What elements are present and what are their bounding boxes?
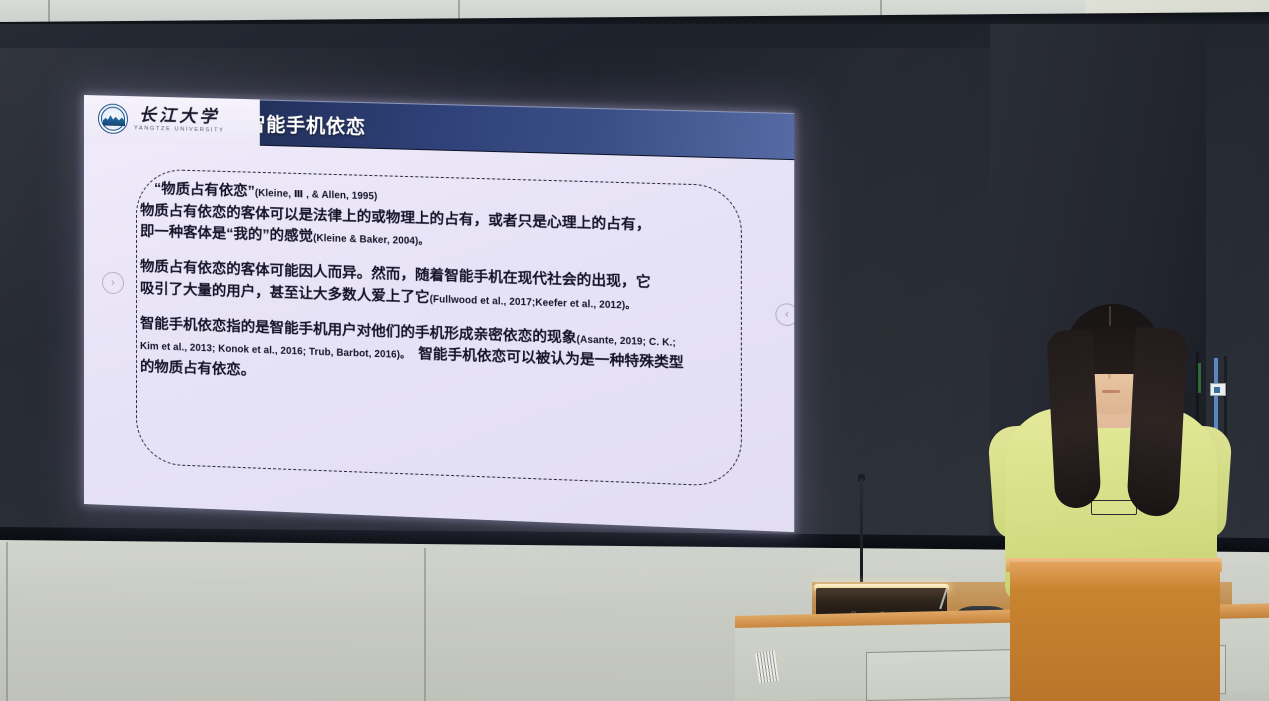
p1-line3-citation: (Kleine & Baker, 2004)。 [313, 233, 428, 248]
university-crest-icon [98, 103, 128, 134]
podium [1010, 562, 1220, 701]
hair-part [1109, 306, 1111, 326]
chevron-right-icon: › [111, 277, 115, 288]
university-name-en: YANGTZE UNIVERSITY [134, 127, 224, 135]
p3-line3-text: 的物质占有依恋。 [140, 359, 255, 379]
classroom-scene: 2.1 从人际依恋到智能手机依恋 长江大学 YANGTZE UNIVERSITY… [0, 0, 1269, 701]
university-logo: 长江大学 YANGTZE UNIVERSITY [84, 95, 260, 146]
p3-line1-text: 智能手机依恋指的是智能手机用户对他们的手机形成亲密依恋的现象 [140, 315, 577, 346]
slide-prev-button[interactable]: ‹ [775, 303, 794, 326]
p3-line1-citation: (Asante, 2019; C. K.; [577, 334, 676, 349]
mouth [1102, 390, 1120, 393]
hair-left [1046, 329, 1101, 509]
shirt-graphic [1091, 500, 1137, 515]
p3-line2-citation: Kim et al., 2013; Konok et al., 2016; Tr… [140, 341, 410, 361]
presenter [985, 300, 1235, 600]
chevron-left-icon: ‹ [785, 309, 789, 320]
paragraph-2: 物质占有依恋的客体可能因人而异。然而，随着智能手机在现代社会的出现，它 吸引了大… [140, 257, 754, 320]
university-name-cn: 长江大学 [139, 107, 219, 126]
slide-body: “物质占有依恋”(Kleine, Ⅲ , & Allen, 1995) 物质占有… [140, 179, 754, 414]
wall-seam [6, 542, 8, 701]
p2-line2-citation: (Fullwood et al., 2017;Keefer et al., 20… [430, 294, 636, 312]
p1-line1-citation: (Kleine, Ⅲ , & Allen, 1995) [255, 188, 378, 203]
p2-line2-text: 吸引了大量的用户，甚至让大多数人爱上了它 [140, 281, 430, 306]
hair-right [1126, 327, 1188, 517]
slide-next-button[interactable]: › [102, 272, 124, 295]
wall-seam [424, 548, 426, 701]
projected-slide[interactable]: 2.1 从人际依恋到智能手机依恋 长江大学 YANGTZE UNIVERSITY… [84, 95, 794, 532]
p1-line3-text: 即一种客体是“我的”的感觉 [140, 224, 313, 245]
equipment-label-sticker [755, 651, 779, 684]
p1-line1-text: “物质占有依恋” [140, 181, 255, 200]
paragraph-3: 智能手机依恋指的是智能手机用户对他们的手机形成亲密依恋的现象(Asante, 2… [140, 313, 754, 400]
p3-line2-text: 智能手机依恋可以被认为是一种特殊类型 [418, 347, 683, 372]
